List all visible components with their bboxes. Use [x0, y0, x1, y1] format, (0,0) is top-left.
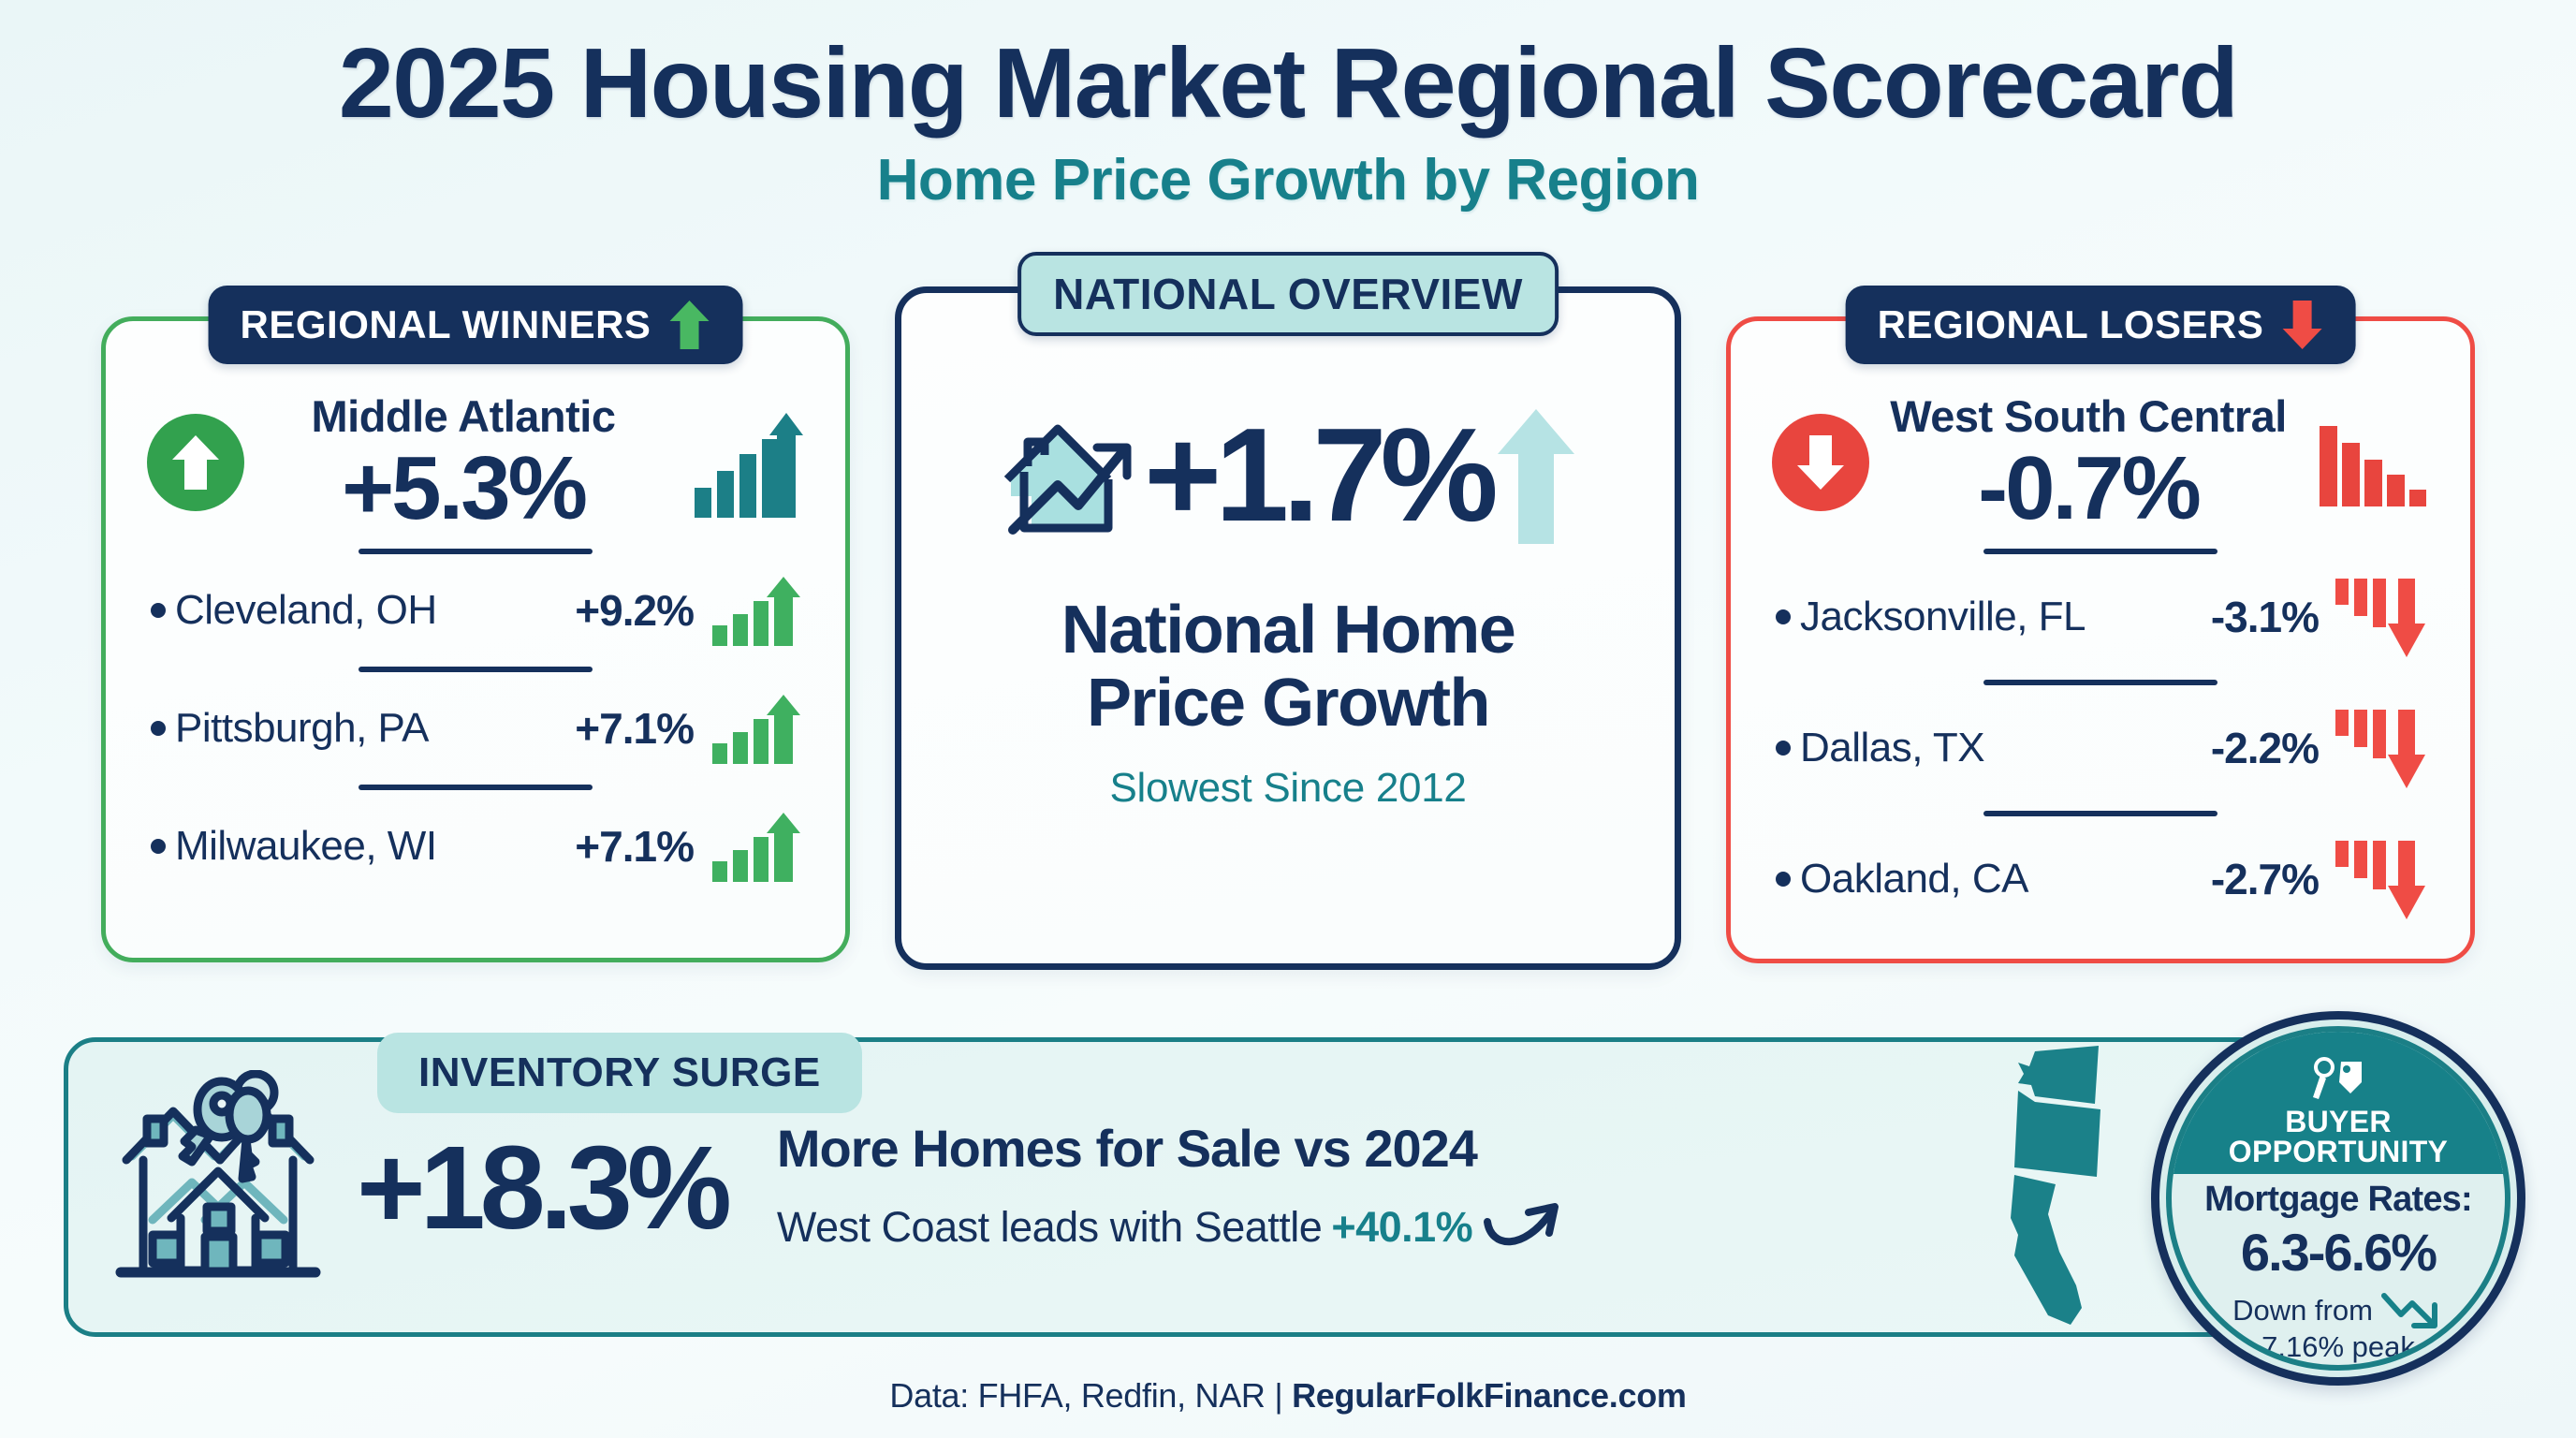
winners-divider-2	[359, 667, 593, 672]
winners-badge-label: REGIONAL WINNERS	[241, 302, 651, 347]
winners-region-value: +5.3%	[252, 444, 675, 534]
losers-bar-chart-icon	[2317, 407, 2429, 518]
national-badge-label: NATIONAL OVERVIEW	[1053, 269, 1523, 319]
page-subtitle: Home Price Growth by Region	[0, 147, 2576, 213]
winners-bar-chart-icon	[692, 407, 804, 518]
winners-region-name: Middle Atlantic	[252, 390, 675, 442]
national-value: +1.7%	[1144, 409, 1492, 542]
city-value: -2.2%	[2211, 723, 2319, 773]
down-spark-icon	[2328, 706, 2425, 790]
city-name: Jacksonville, FL	[1800, 594, 2202, 640]
inventory-line2-accent: +40.1%	[1331, 1203, 1472, 1252]
down-spark-icon	[2328, 575, 2425, 659]
city-value: +7.1%	[575, 703, 694, 754]
city-name: Pittsburgh, PA	[175, 705, 565, 752]
bullet-icon	[1776, 609, 1791, 624]
buyer-note: Down from 7.16% peak	[2172, 1290, 2505, 1364]
city-value: +9.2%	[575, 585, 694, 636]
losers-divider-1	[1983, 549, 2217, 554]
national-headline: National Home Price Growth	[943, 594, 1633, 741]
curved-arrow-icon	[1482, 1197, 1566, 1257]
inventory-line2-prefix: West Coast leads with Seattle	[777, 1203, 1322, 1252]
buyer-rates-value: 6.3-6.6%	[2172, 1222, 2505, 1283]
bullet-icon	[151, 721, 166, 736]
scorecard-row: REGIONAL WINNERS Middle Atlantic +5.3%	[0, 316, 2576, 970]
footer-source: Data: FHFA, Redfin, NAR | RegularFolkFin…	[0, 1376, 2576, 1416]
buyer-title-line1: BUYER	[2285, 1107, 2392, 1137]
losers-divider-3	[1983, 811, 2217, 816]
winners-badge: REGIONAL WINNERS	[209, 286, 743, 364]
city-value: -2.7%	[2211, 854, 2319, 904]
arrow-up-icon	[1496, 405, 1576, 546]
bullet-icon	[151, 603, 166, 618]
city-value: +7.1%	[575, 821, 694, 872]
losers-region-header: West South Central -0.7%	[1772, 390, 2429, 534]
up-spark-icon	[703, 693, 800, 764]
list-item: Dallas, TX -2.2%	[1772, 700, 2429, 796]
national-note: Slowest Since 2012	[943, 765, 1633, 812]
down-spark-icon	[2328, 837, 2425, 921]
national-headline-line1: National Home	[943, 594, 1633, 668]
inventory-badge-label: INVENTORY SURGE	[377, 1033, 862, 1113]
winners-divider-1	[359, 549, 593, 554]
arrow-up-icon	[667, 299, 710, 351]
list-item: Cleveland, OH +9.2%	[147, 569, 804, 652]
up-spark-icon	[703, 575, 800, 646]
list-item: Oakland, CA -2.7%	[1772, 831, 2429, 927]
city-name: Cleveland, OH	[175, 587, 565, 634]
city-name: Dallas, TX	[1800, 725, 2202, 771]
arrow-up-circle-icon	[147, 414, 244, 511]
national-overview-card: NATIONAL OVERVIEW +1.7% National Home Pr…	[895, 286, 1681, 970]
arrow-down-circle-icon	[1772, 414, 1869, 511]
house-growth-icon	[1000, 410, 1140, 541]
buyer-note-line2: 7.16% peak	[2172, 1331, 2505, 1364]
city-value: -3.1%	[2211, 592, 2319, 642]
buyer-badge-header: BUYER OPPORTUNITY	[2172, 1032, 2505, 1174]
list-item: Milwaukee, WI +7.1%	[147, 805, 804, 888]
regional-losers-card: REGIONAL LOSERS West South Central -0.7%	[1726, 316, 2475, 963]
inventory-value: +18.3%	[357, 1120, 726, 1255]
trend-down-icon	[2380, 1290, 2444, 1331]
losers-region-value: -0.7%	[1877, 444, 2300, 534]
city-name: Oakland, CA	[1800, 856, 2202, 902]
list-item: Jacksonville, FL -3.1%	[1772, 569, 2429, 665]
footer-brand: RegularFolkFinance.com	[1292, 1376, 1687, 1415]
buyer-rates-label: Mortgage Rates:	[2172, 1180, 2505, 1220]
inventory-line1: More Homes for Sale vs 2024	[777, 1118, 1566, 1179]
bullet-icon	[1776, 872, 1791, 887]
national-badge: NATIONAL OVERVIEW	[1017, 252, 1559, 336]
losers-badge-label: REGIONAL LOSERS	[1878, 302, 2264, 347]
buyer-title-line2: OPPORTUNITY	[2229, 1137, 2448, 1167]
winners-divider-3	[359, 785, 593, 790]
page-header: 2025 Housing Market Regional Scorecard H…	[0, 0, 2576, 213]
key-tag-icon	[2309, 1056, 2367, 1103]
national-value-row: +1.7%	[943, 405, 1633, 546]
footer-source-text: Data: FHFA, Redfin, NAR |	[889, 1376, 1292, 1415]
national-headline-line2: Price Growth	[943, 668, 1633, 741]
losers-badge: REGIONAL LOSERS	[1846, 286, 2356, 364]
buyer-note-line1: Down from	[2232, 1295, 2373, 1328]
regional-winners-card: REGIONAL WINNERS Middle Atlantic +5.3%	[101, 316, 850, 962]
winners-region-header: Middle Atlantic +5.3%	[147, 390, 804, 534]
inventory-line2: West Coast leads with Seattle +40.1%	[777, 1197, 1566, 1257]
bullet-icon	[1776, 741, 1791, 756]
houses-with-keys-icon	[106, 1070, 330, 1304]
up-spark-icon	[703, 811, 800, 882]
losers-region-name: West South Central	[1877, 390, 2300, 442]
bullet-icon	[151, 839, 166, 854]
list-item: Pittsburgh, PA +7.1%	[147, 687, 804, 770]
arrow-down-icon	[2280, 299, 2323, 351]
city-name: Milwaukee, WI	[175, 823, 565, 870]
page-title: 2025 Housing Market Regional Scorecard	[0, 32, 2576, 136]
west-coast-map-icon	[1986, 1034, 2173, 1334]
inventory-text-block: More Homes for Sale vs 2024 West Coast l…	[777, 1118, 1566, 1257]
losers-divider-2	[1983, 680, 2217, 685]
buyer-badge-body: Mortgage Rates: 6.3-6.6% Down from 7.16%…	[2172, 1180, 2505, 1364]
buyer-opportunity-badge: BUYER OPPORTUNITY Mortgage Rates: 6.3-6.…	[2151, 1011, 2525, 1386]
